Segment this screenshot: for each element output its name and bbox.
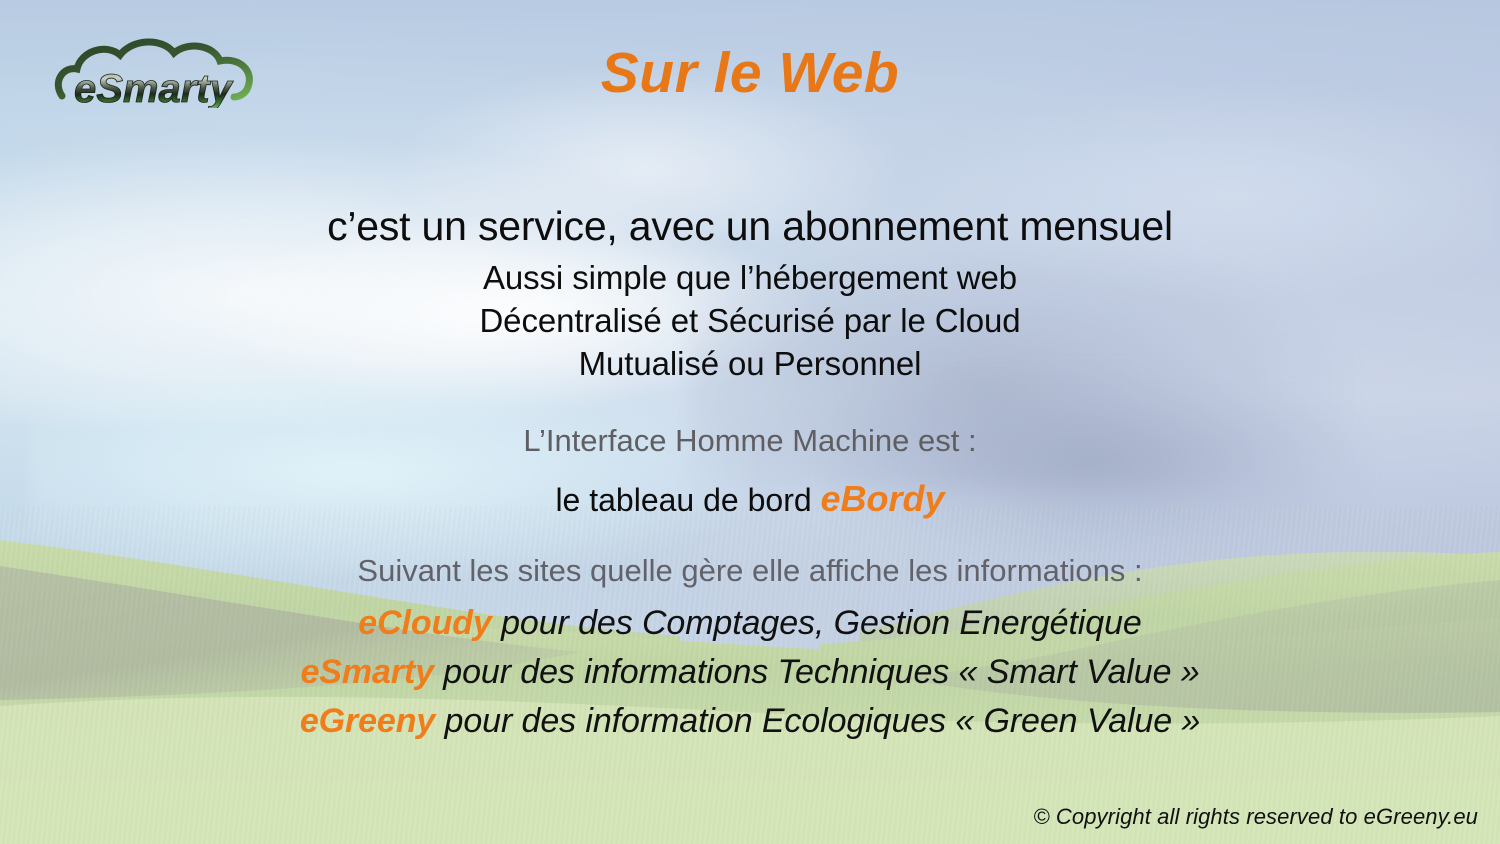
- brand-esmarty: eSmarty: [300, 653, 434, 691]
- intro-headline: c’est un service, avec un abonnement men…: [0, 204, 1500, 249]
- brand-ebordy: eBordy: [821, 478, 945, 519]
- intro-line-3: Mutualisé ou Personnel: [0, 343, 1500, 386]
- intro-line-2: Décentralisé et Sécurisé par le Cloud: [0, 300, 1500, 343]
- site-line: eSmarty pour des informations Techniques…: [0, 648, 1500, 697]
- brand-egreeny: eGreeny: [300, 702, 435, 740]
- interface-block: L’Interface Homme Machine est : le table…: [0, 422, 1500, 520]
- slide-content: Sur le Web c’est un service, avec un abo…: [0, 0, 1500, 844]
- site-text: pour des informations Techniques « Smart…: [434, 653, 1200, 691]
- dashboard-line: le tableau de bord eBordy: [0, 477, 1500, 520]
- sites-block: Suivant les sites quelle gère elle affic…: [0, 552, 1500, 746]
- site-text: pour des Comptages, Gestion Energétique: [492, 604, 1142, 642]
- intro-line-1: Aussi simple que l’hébergement web: [0, 257, 1500, 300]
- brand-ecloudy: eCloudy: [358, 604, 491, 642]
- dashboard-prefix: le tableau de bord: [555, 482, 820, 518]
- site-line: eCloudy pour des Comptages, Gestion Ener…: [0, 599, 1500, 648]
- interface-label: L’Interface Homme Machine est :: [0, 422, 1500, 459]
- copyright-footer: © Copyright all rights reserved to eGree…: [1033, 804, 1478, 830]
- site-line: eGreeny pour des information Ecologiques…: [0, 697, 1500, 746]
- intro-block: c’est un service, avec un abonnement men…: [0, 204, 1500, 386]
- slide-canvas: eSmarty Sur le Web c’est un service, ave…: [0, 0, 1500, 844]
- site-text: pour des information Ecologiques « Green…: [435, 702, 1200, 740]
- sites-label: Suivant les sites quelle gère elle affic…: [0, 552, 1500, 589]
- page-title: Sur le Web: [0, 44, 1500, 104]
